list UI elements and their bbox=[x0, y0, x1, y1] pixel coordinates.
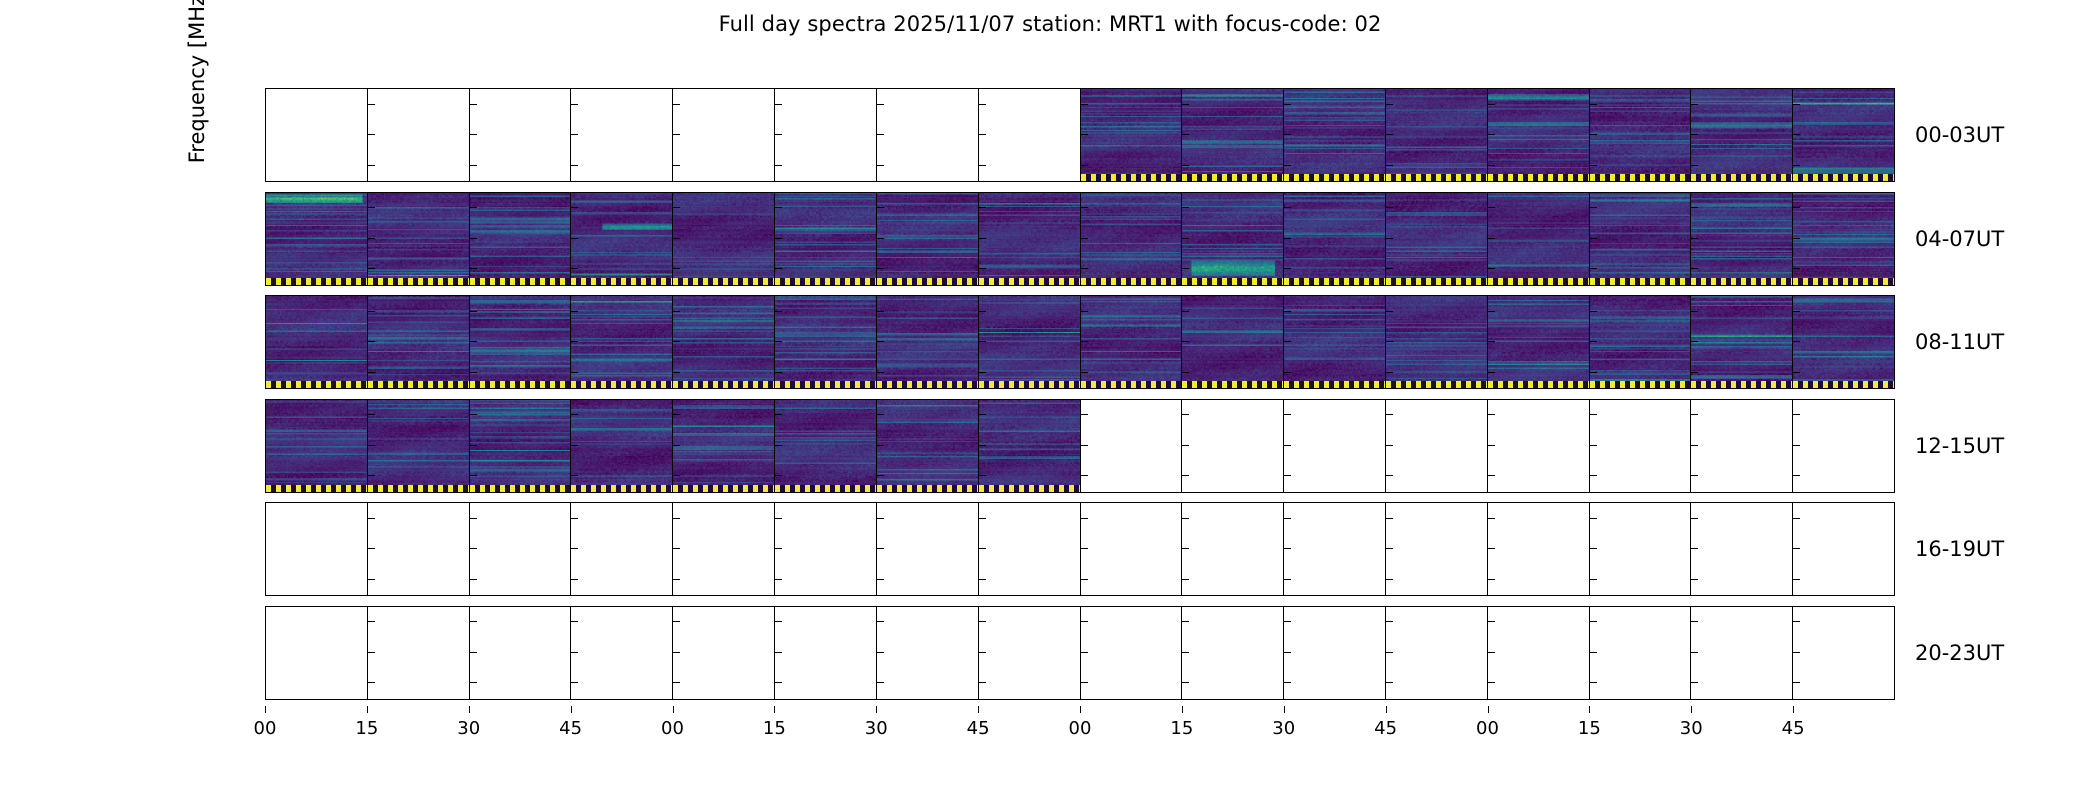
spectrogram-panel bbox=[1385, 192, 1487, 286]
y-tick-mark bbox=[775, 165, 782, 166]
y-tick-mark bbox=[775, 445, 782, 446]
y-tick-mark bbox=[1386, 311, 1393, 312]
y-tick-mark bbox=[1081, 372, 1088, 373]
y-tick-mark bbox=[1386, 548, 1393, 549]
x-tick-label: 45 bbox=[967, 718, 990, 739]
spectrogram-panel bbox=[1792, 88, 1895, 182]
data-availability-marker bbox=[979, 278, 1080, 285]
y-tick-mark bbox=[265, 475, 266, 476]
y-tick-mark bbox=[1691, 579, 1698, 580]
y-tick-mark bbox=[1488, 134, 1495, 135]
data-availability-marker bbox=[470, 381, 571, 388]
data-availability-marker bbox=[1590, 174, 1691, 181]
data-availability-marker bbox=[571, 278, 672, 285]
y-tick-mark bbox=[1793, 621, 1800, 622]
y-tick-mark bbox=[1590, 579, 1597, 580]
y-tick-mark bbox=[470, 165, 477, 166]
spectrogram-image bbox=[673, 193, 774, 285]
y-tick-mark bbox=[1488, 579, 1495, 580]
data-availability-marker bbox=[673, 485, 774, 492]
y-tick-mark bbox=[979, 445, 986, 446]
y-tick-mark bbox=[979, 238, 986, 239]
spectrogram-panel bbox=[672, 295, 774, 389]
y-tick-mark bbox=[1284, 445, 1291, 446]
empty-panel bbox=[1181, 606, 1283, 700]
spectrogram-image bbox=[1386, 89, 1487, 181]
y-tick-mark bbox=[1386, 579, 1393, 580]
spectrogram-panel bbox=[570, 399, 672, 493]
y-tick-mark bbox=[1488, 104, 1495, 105]
y-tick-mark bbox=[775, 621, 782, 622]
y-tick-mark bbox=[571, 548, 578, 549]
y-tick-mark bbox=[775, 104, 782, 105]
y-tick-mark bbox=[571, 268, 578, 269]
y-tick-mark bbox=[470, 134, 477, 135]
spectrogram-image bbox=[368, 193, 469, 285]
y-tick-mark bbox=[1182, 165, 1189, 166]
data-availability-marker bbox=[1793, 174, 1894, 181]
data-availability-marker bbox=[1590, 381, 1691, 388]
y-tick-mark bbox=[775, 134, 782, 135]
y-tick-mark bbox=[673, 475, 680, 476]
y-tick-mark bbox=[1081, 682, 1088, 683]
data-availability-marker bbox=[1793, 278, 1894, 285]
y-tick-mark bbox=[877, 652, 884, 653]
y-tick-mark bbox=[1284, 372, 1291, 373]
y-tick-mark bbox=[1488, 207, 1495, 208]
spectrogram-panel bbox=[1283, 295, 1385, 389]
y-tick-mark bbox=[1691, 682, 1698, 683]
y-tick-mark bbox=[1386, 207, 1393, 208]
y-tick-mark bbox=[1081, 104, 1088, 105]
spectrogram-panel bbox=[978, 192, 1080, 286]
spectrogram-image bbox=[1793, 89, 1894, 181]
y-tick-mark bbox=[1284, 414, 1291, 415]
spectrogram-image bbox=[673, 296, 774, 388]
y-tick-mark bbox=[1590, 134, 1597, 135]
y-tick-mark bbox=[571, 372, 578, 373]
y-tick-mark bbox=[673, 238, 680, 239]
y-tick-mark bbox=[877, 134, 884, 135]
spectrogram-panel bbox=[1181, 88, 1283, 182]
empty-panel bbox=[1385, 399, 1487, 493]
row-time-range-label: 12-15UT bbox=[1915, 434, 2004, 458]
y-tick-mark bbox=[775, 372, 782, 373]
spectrogram-panel bbox=[1181, 295, 1283, 389]
empty-panel bbox=[1181, 502, 1283, 596]
y-tick-mark bbox=[1182, 341, 1189, 342]
data-availability-marker bbox=[266, 278, 367, 285]
y-tick-mark bbox=[979, 268, 986, 269]
empty-panel bbox=[876, 88, 978, 182]
y-tick-mark bbox=[470, 682, 477, 683]
x-tick-mark bbox=[876, 706, 877, 713]
y-tick-mark bbox=[877, 341, 884, 342]
y-tick-mark bbox=[571, 414, 578, 415]
x-tick-label: 45 bbox=[1782, 718, 1805, 739]
x-tick-mark bbox=[265, 706, 266, 713]
spectrogram-panel bbox=[367, 399, 469, 493]
data-availability-marker bbox=[1081, 381, 1182, 388]
y-tick-mark bbox=[1691, 134, 1698, 135]
y-tick-mark bbox=[1590, 268, 1597, 269]
data-availability-marker bbox=[877, 485, 978, 492]
y-tick-mark bbox=[470, 621, 477, 622]
y-tick-mark bbox=[1182, 414, 1189, 415]
data-availability-marker bbox=[470, 278, 571, 285]
spectrogram-image bbox=[1386, 193, 1487, 285]
y-tick-mark bbox=[1284, 652, 1291, 653]
y-tick-mark bbox=[1081, 518, 1088, 519]
y-tick-mark bbox=[1793, 134, 1800, 135]
y-tick-mark bbox=[1081, 621, 1088, 622]
y-tick-mark bbox=[979, 165, 986, 166]
data-availability-marker bbox=[368, 278, 469, 285]
y-tick-mark bbox=[265, 445, 266, 446]
y-tick-mark bbox=[877, 165, 884, 166]
empty-panel bbox=[1589, 606, 1691, 700]
y-tick-mark bbox=[673, 682, 680, 683]
y-tick-mark bbox=[265, 341, 266, 342]
y-tick-mark bbox=[470, 311, 477, 312]
spectrogram-panel bbox=[367, 192, 469, 286]
y-tick-mark bbox=[1691, 475, 1698, 476]
y-tick-mark bbox=[1386, 341, 1393, 342]
y-tick-mark bbox=[1691, 445, 1698, 446]
spectrogram-panel bbox=[672, 399, 774, 493]
y-tick-mark bbox=[1488, 372, 1495, 373]
y-tick-mark bbox=[1691, 652, 1698, 653]
y-tick-mark bbox=[775, 518, 782, 519]
spectrogram-panel: 250500750 bbox=[265, 192, 367, 286]
y-tick-mark bbox=[1081, 165, 1088, 166]
spectrogram-panel bbox=[1589, 192, 1691, 286]
spectrogram-image bbox=[877, 296, 978, 388]
y-tick-mark bbox=[1590, 104, 1597, 105]
y-tick-mark bbox=[1284, 518, 1291, 519]
empty-panel bbox=[1080, 399, 1182, 493]
spectrogram-panel: 250500750 bbox=[265, 399, 367, 493]
y-tick-mark bbox=[265, 165, 266, 166]
empty-panel bbox=[978, 606, 1080, 700]
spectrogram-panel bbox=[1792, 295, 1895, 389]
y-tick-mark bbox=[571, 134, 578, 135]
y-tick-mark bbox=[1081, 445, 1088, 446]
y-tick-mark bbox=[1590, 372, 1597, 373]
y-tick-mark bbox=[1386, 518, 1393, 519]
y-tick-mark bbox=[1793, 518, 1800, 519]
spectrogram-image bbox=[979, 296, 1080, 388]
y-tick-mark bbox=[979, 475, 986, 476]
data-availability-marker bbox=[1081, 278, 1182, 285]
spectrogram-image bbox=[1081, 89, 1182, 181]
y-tick-mark bbox=[979, 652, 986, 653]
spectrogram-panel bbox=[1487, 192, 1589, 286]
y-tick-mark bbox=[673, 268, 680, 269]
y-tick-mark bbox=[368, 207, 375, 208]
y-tick-mark bbox=[470, 238, 477, 239]
x-tick-mark bbox=[1284, 706, 1285, 713]
row-time-range-label: 08-11UT bbox=[1915, 330, 2004, 354]
empty-panel bbox=[1589, 399, 1691, 493]
spectrogram-image bbox=[368, 400, 469, 492]
spectrogram-image bbox=[1284, 89, 1385, 181]
y-tick-mark bbox=[1590, 445, 1597, 446]
chart-title: Full day spectra 2025/11/07 station: MRT… bbox=[0, 12, 2100, 36]
y-tick-mark bbox=[1590, 518, 1597, 519]
empty-panel bbox=[672, 606, 774, 700]
y-tick-mark bbox=[673, 104, 680, 105]
spectrogram-image bbox=[1590, 89, 1691, 181]
empty-panel bbox=[672, 502, 774, 596]
spectrogram-image bbox=[1590, 296, 1691, 388]
spectrogram-panel bbox=[469, 399, 571, 493]
empty-panel bbox=[367, 606, 469, 700]
y-tick-mark bbox=[1488, 475, 1495, 476]
data-availability-marker bbox=[1182, 278, 1283, 285]
spectrogram-image bbox=[266, 193, 367, 285]
data-availability-marker bbox=[877, 278, 978, 285]
x-tick-mark bbox=[367, 706, 368, 713]
x-axis: 00153045001530450015304500153045 bbox=[265, 706, 1895, 766]
y-tick-mark bbox=[1182, 579, 1189, 580]
y-tick-mark bbox=[368, 372, 375, 373]
spectrogram-panel: 250500750 bbox=[265, 295, 367, 389]
y-tick-mark bbox=[877, 372, 884, 373]
data-availability-marker bbox=[673, 381, 774, 388]
x-tick-mark bbox=[673, 706, 674, 713]
y-tick-mark bbox=[368, 518, 375, 519]
y-tick-mark bbox=[775, 207, 782, 208]
spectrogram-panel bbox=[1385, 88, 1487, 182]
row-time-range-label: 00-03UT bbox=[1915, 123, 2004, 147]
y-tick-mark bbox=[775, 475, 782, 476]
spectrogram-panel bbox=[1690, 88, 1792, 182]
spectrogram-panel bbox=[774, 295, 876, 389]
empty-panel: 250500750 bbox=[265, 606, 367, 700]
spectrogram-image bbox=[1691, 193, 1792, 285]
y-tick-mark bbox=[1386, 238, 1393, 239]
y-tick-mark bbox=[265, 134, 266, 135]
empty-panel bbox=[1283, 502, 1385, 596]
y-tick-mark bbox=[571, 475, 578, 476]
y-tick-mark bbox=[571, 518, 578, 519]
empty-panel bbox=[469, 88, 571, 182]
y-tick-mark bbox=[673, 311, 680, 312]
spectrogram-panel bbox=[978, 295, 1080, 389]
y-tick-mark bbox=[470, 207, 477, 208]
y-tick-mark bbox=[470, 414, 477, 415]
y-tick-mark bbox=[1691, 621, 1698, 622]
y-tick-mark bbox=[1182, 475, 1189, 476]
data-availability-marker bbox=[877, 381, 978, 388]
empty-panel bbox=[978, 502, 1080, 596]
y-tick-mark bbox=[979, 311, 986, 312]
y-tick-mark bbox=[1386, 268, 1393, 269]
y-tick-mark bbox=[1488, 652, 1495, 653]
spectrogram-panel bbox=[1589, 295, 1691, 389]
y-tick-mark bbox=[877, 311, 884, 312]
y-tick-mark bbox=[1691, 311, 1698, 312]
y-tick-mark bbox=[1386, 475, 1393, 476]
y-tick-mark bbox=[1793, 341, 1800, 342]
y-tick-mark bbox=[265, 207, 266, 208]
spectrogram-row: 250500750 bbox=[265, 295, 1895, 389]
y-tick-mark bbox=[1793, 682, 1800, 683]
x-tick-mark bbox=[1080, 706, 1081, 713]
y-tick-mark bbox=[1284, 682, 1291, 683]
y-tick-mark bbox=[673, 414, 680, 415]
y-tick-mark bbox=[1182, 652, 1189, 653]
y-tick-mark bbox=[1793, 104, 1800, 105]
data-availability-marker bbox=[775, 485, 876, 492]
y-tick-mark bbox=[1284, 207, 1291, 208]
x-tick-label: 00 bbox=[254, 718, 277, 739]
spectrogram-panel bbox=[1080, 295, 1182, 389]
y-tick-mark bbox=[1793, 548, 1800, 549]
spectrogram-image bbox=[1386, 296, 1487, 388]
spectrogram-panel bbox=[672, 192, 774, 286]
y-tick-mark bbox=[673, 445, 680, 446]
spectrogram-panel bbox=[876, 399, 978, 493]
spectrogram-panel bbox=[1792, 192, 1895, 286]
y-tick-mark bbox=[979, 548, 986, 549]
y-tick-mark bbox=[1182, 518, 1189, 519]
spectrogram-image bbox=[470, 193, 571, 285]
y-tick-mark bbox=[265, 104, 266, 105]
y-tick-mark bbox=[1081, 475, 1088, 476]
y-tick-mark bbox=[1488, 682, 1495, 683]
data-availability-marker bbox=[979, 381, 1080, 388]
spectrogram-panel bbox=[1283, 192, 1385, 286]
y-tick-mark bbox=[1590, 621, 1597, 622]
y-tick-mark bbox=[368, 682, 375, 683]
spectrogram-panel bbox=[978, 399, 1080, 493]
y-tick-mark bbox=[1081, 207, 1088, 208]
y-tick-mark bbox=[673, 134, 680, 135]
y-tick-mark bbox=[1793, 207, 1800, 208]
data-availability-marker bbox=[1386, 174, 1487, 181]
y-tick-mark bbox=[775, 682, 782, 683]
spectrogram-row: 250500750 bbox=[265, 502, 1895, 596]
y-tick-mark bbox=[1691, 268, 1698, 269]
y-tick-mark bbox=[1488, 548, 1495, 549]
y-tick-mark bbox=[1590, 238, 1597, 239]
data-availability-marker bbox=[1081, 174, 1182, 181]
data-availability-marker bbox=[1182, 381, 1283, 388]
y-tick-mark bbox=[1691, 548, 1698, 549]
y-tick-mark bbox=[1793, 414, 1800, 415]
y-tick-mark bbox=[1691, 518, 1698, 519]
spectrogram-image bbox=[1691, 89, 1792, 181]
y-tick-mark bbox=[368, 652, 375, 653]
y-tick-mark bbox=[571, 238, 578, 239]
empty-panel bbox=[1385, 502, 1487, 596]
spectrogram-panel bbox=[570, 295, 672, 389]
y-tick-mark bbox=[1590, 341, 1597, 342]
y-tick-mark bbox=[1284, 165, 1291, 166]
y-tick-mark bbox=[1590, 311, 1597, 312]
y-tick-mark bbox=[1386, 652, 1393, 653]
spectrogram-panel bbox=[570, 192, 672, 286]
y-tick-mark bbox=[1081, 311, 1088, 312]
y-tick-mark bbox=[571, 445, 578, 446]
y-tick-mark bbox=[1081, 238, 1088, 239]
spectrogram-image bbox=[1488, 193, 1589, 285]
y-tick-mark bbox=[368, 341, 375, 342]
y-tick-mark bbox=[1793, 238, 1800, 239]
y-tick-mark bbox=[470, 268, 477, 269]
spectrogram-panel bbox=[876, 295, 978, 389]
spectrogram-row: 250500750 bbox=[265, 606, 1895, 700]
empty-panel bbox=[1690, 502, 1792, 596]
x-tick-mark bbox=[1793, 706, 1794, 713]
y-tick-mark bbox=[877, 548, 884, 549]
spectrogram-image bbox=[571, 296, 672, 388]
y-tick-mark bbox=[1284, 475, 1291, 476]
spectrogram-image bbox=[1793, 193, 1894, 285]
empty-panel bbox=[1792, 606, 1895, 700]
data-availability-marker bbox=[775, 278, 876, 285]
y-tick-mark bbox=[265, 372, 266, 373]
y-tick-mark bbox=[1081, 268, 1088, 269]
x-tick-label: 30 bbox=[1680, 718, 1703, 739]
y-tick-mark bbox=[368, 445, 375, 446]
x-tick-mark bbox=[1691, 706, 1692, 713]
y-tick-mark bbox=[571, 165, 578, 166]
spectrogram-image bbox=[470, 296, 571, 388]
y-tick-mark bbox=[368, 579, 375, 580]
figure: Full day spectra 2025/11/07 station: MRT… bbox=[0, 0, 2100, 800]
y-tick-mark bbox=[1488, 165, 1495, 166]
y-tick-mark bbox=[1081, 548, 1088, 549]
y-tick-mark bbox=[1691, 207, 1698, 208]
x-tick-mark bbox=[1386, 706, 1387, 713]
spectrogram-image bbox=[266, 296, 367, 388]
x-tick-mark bbox=[571, 706, 572, 713]
y-tick-mark bbox=[979, 134, 986, 135]
y-tick-mark bbox=[1793, 372, 1800, 373]
y-tick-mark bbox=[1182, 311, 1189, 312]
data-availability-marker bbox=[368, 381, 469, 388]
y-tick-mark bbox=[1691, 372, 1698, 373]
y-tick-mark bbox=[1590, 475, 1597, 476]
empty-panel bbox=[774, 88, 876, 182]
y-tick-mark bbox=[1081, 134, 1088, 135]
y-tick-mark bbox=[1590, 548, 1597, 549]
y-tick-mark bbox=[979, 414, 986, 415]
y-tick-mark bbox=[368, 238, 375, 239]
y-tick-mark bbox=[877, 268, 884, 269]
spectrogram-image bbox=[1691, 296, 1792, 388]
data-availability-marker bbox=[775, 381, 876, 388]
x-tick-label: 15 bbox=[1578, 718, 1601, 739]
y-tick-mark bbox=[877, 475, 884, 476]
y-tick-mark bbox=[571, 341, 578, 342]
spectrogram-row: 250500750 bbox=[265, 399, 1895, 493]
spectrogram-image bbox=[775, 296, 876, 388]
y-tick-mark bbox=[1182, 621, 1189, 622]
spectrogram-panel bbox=[1181, 192, 1283, 286]
spectrogram-image bbox=[266, 400, 367, 492]
y-tick-mark bbox=[265, 268, 266, 269]
y-tick-mark bbox=[1793, 165, 1800, 166]
data-availability-marker bbox=[1691, 381, 1792, 388]
spectrogram-image bbox=[1182, 193, 1283, 285]
data-availability-marker bbox=[1488, 278, 1589, 285]
y-tick-mark bbox=[1182, 548, 1189, 549]
y-tick-mark bbox=[1793, 652, 1800, 653]
